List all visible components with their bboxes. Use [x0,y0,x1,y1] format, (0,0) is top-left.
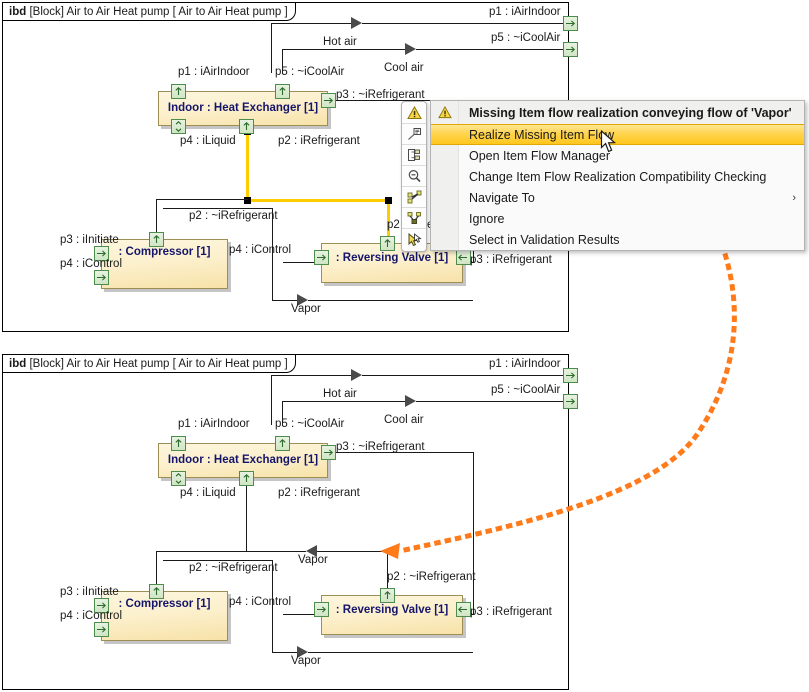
label-hotair-top: Hot air [323,36,357,48]
wire-selected-horizontal[interactable] [246,199,390,202]
port-compressor-p4-left-bottom-d[interactable] [94,622,109,637]
port-valve-p2-top[interactable] [380,236,395,251]
wire-he-p2-down-b [246,481,247,552]
context-menu-header: Missing Item flow realization conveying … [431,101,804,124]
zoom-out-icon [407,169,422,183]
warning-triangle-icon [407,106,422,120]
label-he-p5-top: p5 : ~iCoolAir [275,66,344,78]
diagram-title-tab-bottom: ibd [Block] Air to Air Heat pump [ Air t… [3,355,296,373]
port-he-p1-top[interactable] [171,84,186,99]
port-he-p4-bottom-d[interactable] [171,471,186,486]
menu-item-navigate-to[interactable]: Navigate To › [431,187,804,208]
label-compressor-p3-bottom-d: p3 : iInitiate [60,586,119,598]
block-label-compressor-top: : Compressor [1] [102,246,227,258]
wire-hotair-vertical-b [271,375,272,425]
port-he-p5-bottom-d[interactable] [275,436,290,451]
toolbar-item-select-cursor[interactable] [402,229,426,250]
menu-item-gutter-4 [431,187,459,208]
label-valve-p3-bottom-d: p3 : iRefrigerant [470,606,552,618]
wire-vapor-upper-b [246,551,306,552]
label-he-p5-bottom-d: p5 : ~iCoolAir [275,418,344,430]
wire-coolair-horizontal-b [282,401,405,402]
wire-vapor-bottom-b [272,652,297,653]
label-vapor-top: Vapor [291,303,321,315]
menu-item-label-4: Navigate To [459,191,535,205]
smart-manipulator-toolbar[interactable] [401,101,427,252]
toolbar-item-warning[interactable] [402,103,426,124]
port-valve-p3-right-bottom-d[interactable] [456,602,471,617]
port-valve-p2-top-bottom-d[interactable] [380,588,395,603]
diagram-view-bottom: [ Air to Air Heat pump ] [173,358,288,370]
label-compressor-p4-top: p4 : iControl [60,258,122,270]
navigate-icon [407,190,422,204]
related-elements-icon [407,148,422,162]
port-compressor-p4-left[interactable] [94,270,109,285]
arrow-hotair [351,17,362,29]
block-label-heat-exchanger-top: Indoor : Heat Exchanger [1] [159,102,327,114]
label-compressor-p2-top: p2 : ~iRefrigerant [189,210,278,222]
port-he-p2-bottom-d[interactable] [239,471,254,486]
menu-item-label-1: Realize Missing Item Flow [459,128,614,142]
label-vapor-upper-bottom-d: Vapor [298,554,328,566]
label-he-p4-bottom-d: p4 : iLiquid [180,487,236,499]
label-valve-p4-bottom-d: p4 : iControl [229,596,291,608]
arrow-hotair-b [351,369,362,381]
wire-vapor-upper-2-b [317,551,387,552]
label-he-p1-bottom-d: p1 : iAirIndoor [178,418,250,430]
warning-triangle-icon [438,106,452,119]
arrow-coolair-b [405,395,416,407]
menu-item-change-item-flow-realization-compatibility-checking[interactable]: Change Item Flow Realization Compatibili… [431,166,804,187]
port-compressor-p2-top-bottom-d[interactable] [149,584,164,599]
menu-item-label-6: Select in Validation Results [459,233,620,247]
label-valve-p3-top: p3 : iRefrigerant [470,254,552,266]
label-frame-p1-bottom-d: p1 : iAirIndoor [489,358,561,370]
mouse-cursor [600,130,618,154]
toolbar-item-zoom-out[interactable] [402,166,426,187]
label-frame-p5-top: p5 : ~iCoolAir [491,32,560,44]
diagram-name-top: Air to Air Heat pump [67,6,170,18]
label-he-p1-top: p1 : iAirIndoor [178,66,250,78]
menu-item-ignore[interactable]: Ignore [431,208,804,229]
label-compressor-p4-bottom-d: p4 : iControl [60,610,122,622]
wire-coolair-horizontal [282,49,405,50]
port-frame-p5-top[interactable] [563,42,578,57]
label-compressor-p2-bottom-d: p2 : ~iRefrigerant [189,562,278,574]
arrow-coolair [405,43,416,55]
toolbar-item-related-elements[interactable] [402,145,426,166]
menu-item-select-in-validation-results[interactable]: Select in Validation Results [431,229,804,250]
port-frame-p1-bottom-d[interactable] [563,368,578,383]
port-valve-p4-left-bottom-d[interactable] [314,602,329,617]
diagram-stereotype-bottom: [Block] [29,358,64,370]
context-menu[interactable]: Missing Item flow realization conveying … [430,100,805,251]
label-vapor-lower-bottom-d: Vapor [291,655,321,667]
toolbar-item-navigate[interactable] [402,187,426,208]
label-frame-p5-bottom-d: p5 : ~iCoolAir [491,384,560,396]
port-compressor-p2-top[interactable] [149,232,164,247]
port-he-p4-bottom[interactable] [171,119,186,134]
wire-he-p3-down-b [473,452,474,615]
menu-item-gutter-5 [431,208,459,229]
wire-compressor-top2-b [163,560,273,561]
wire-vapor-bottom [272,300,297,301]
label-he-p3-bottom-d: p3 : ~iRefrigerant [336,441,425,453]
toolbar-item-refactor[interactable] [402,208,426,229]
wire-hotair-to-frameport-b [362,375,565,376]
menu-item-gutter-1 [431,125,459,144]
port-he-p2-bottom[interactable] [239,119,254,134]
label-valve-p4-top: p4 : iControl [229,244,291,256]
label-compressor-p3-top: p3 : iInitiate [60,234,119,246]
diagram-title-tab-top: ibd [Block] Air to Air Heat pump [ Air t… [3,3,296,21]
diagram-kind-bottom: ibd [9,358,26,370]
wire-coolair-to-frameport [416,49,565,50]
diagram-frame-bottom[interactable]: ibd [Block] Air to Air Heat pump [ Air t… [2,354,569,690]
block-label-reversing-valve-top: : Reversing Valve [1] [322,252,462,264]
menu-item-label-3: Change Item Flow Realization Compatibili… [459,170,766,184]
port-frame-p1-top[interactable] [563,16,578,31]
port-he-p3-right[interactable] [321,93,336,108]
wire-hotair-horizontal-up [271,23,351,24]
menu-item-label-5: Ignore [459,212,504,226]
wire-compressor-top2 [163,208,273,209]
wire-compressor-p2-right-b [156,551,248,552]
label-coolair-top: Cool air [384,62,424,74]
context-menu-header-text: Missing Item flow realization conveying … [459,106,792,120]
port-he-p5-top[interactable] [275,84,290,99]
selection-handle-3[interactable] [385,197,392,204]
diagram-name-bottom: Air to Air Heat pump [67,358,170,370]
menu-item-gutter-6 [431,229,459,250]
wire-vapor-bottom-2-b [308,652,473,653]
port-he-p3-right-bottom-d[interactable] [321,445,336,460]
wire-hotair-vertical [271,23,272,73]
chevron-right-icon: › [792,192,796,204]
label-he-p4-top: p4 : iLiquid [180,135,236,147]
specification-icon [407,127,422,141]
port-valve-p4-left[interactable] [314,250,329,265]
menu-item-gutter-2 [431,145,459,166]
label-he-p2-bottom-d: p2 : iRefrigerant [278,487,360,499]
block-label-compressor-bottom: : Compressor [1] [102,598,227,610]
port-he-p1-bottom-d[interactable] [171,436,186,451]
diagram-view-top: [ Air to Air Heat pump ] [173,6,288,18]
block-label-heat-exchanger-bottom: Indoor : Heat Exchanger [1] [159,454,327,466]
port-frame-p5-bottom-d[interactable] [563,394,578,409]
wire-hotair-to-frameport [362,23,565,24]
label-he-p3-top: p3 : ~iRefrigerant [336,89,425,101]
wire-coolair-to-frameport-b [416,401,565,402]
toolbar-item-specification[interactable] [402,124,426,145]
port-valve-p3-right[interactable] [456,250,471,265]
label-he-p2-top: p2 : iRefrigerant [278,135,360,147]
label-valve-p2-bottom-d: p2 : ~iRefrigerant [387,571,476,583]
menu-item-gutter-3 [431,166,459,187]
diagram-kind-top: ibd [9,6,26,18]
menu-item-label-2: Open Item Flow Manager [459,149,610,163]
wire-compressor-p2-right [156,199,248,200]
label-hotair-bottom-d: Hot air [323,388,357,400]
block-label-reversing-valve-bottom: : Reversing Valve [1] [322,604,462,616]
select-cursor-icon [407,233,422,247]
wire-vapor-bottom-2 [308,300,473,301]
context-menu-header-gutter [431,101,459,124]
diagram-stereotype-top: [Block] [29,6,64,18]
label-coolair-bottom-d: Cool air [384,414,424,426]
wire-selected-vertical-left[interactable] [246,129,249,201]
refactor-icon [407,211,422,225]
label-frame-p1-top: p1 : iAirIndoor [489,6,561,18]
wire-hotair-horizontal-up-b [271,375,351,376]
